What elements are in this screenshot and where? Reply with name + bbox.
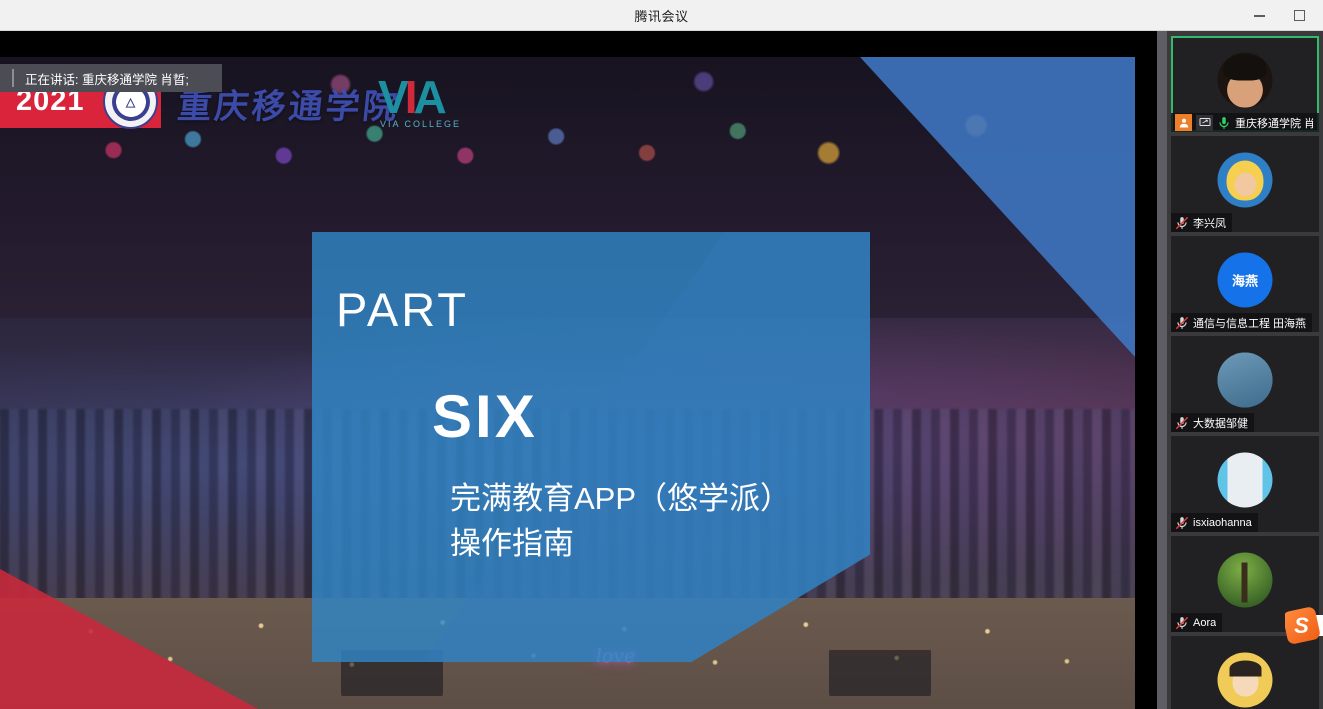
- speaking-indicator-text: 正在讲话: 重庆移通学院 肖晢;: [25, 69, 189, 88]
- participant-nameplate: 大数据邹健: [1171, 413, 1254, 432]
- window-titlebar: 腾讯会议: [0, 0, 1323, 31]
- participant-nameplate: 重庆移通学院 肖...: [1171, 113, 1319, 132]
- participant-name: Aora: [1193, 617, 1216, 629]
- avatar: [1218, 453, 1273, 508]
- participant-nameplate: Aora: [1171, 613, 1222, 632]
- window-controls: [1239, 0, 1319, 31]
- slide-part-label: PART: [336, 282, 469, 337]
- avatar: [1218, 653, 1273, 708]
- participant-name: 李兴凤: [1193, 215, 1226, 231]
- via-logo: V I A: [378, 77, 447, 118]
- mic-muted-icon[interactable]: [1175, 316, 1189, 330]
- participant-name: isxiaohanna: [1193, 517, 1252, 529]
- participant-name: 通信与信息工程 田海燕: [1193, 315, 1306, 331]
- slide-section-title: 完满教育APP（悠学派）操作指南: [450, 477, 820, 567]
- participant-tile[interactable]: 大数据邹健: [1171, 336, 1319, 432]
- mic-muted-icon[interactable]: [1175, 516, 1189, 530]
- participant-tile[interactable]: 海燕通信与信息工程 田海燕: [1171, 236, 1319, 332]
- window-title: 腾讯会议: [634, 6, 688, 25]
- participant-name: 大数据邹健: [1193, 415, 1248, 431]
- participant-tile[interactable]: 重庆移通学院 肖...: [1171, 36, 1319, 132]
- presentation-slide: love 2021 ▵ 重庆移通学院 V I A VIA COLLEGE PAR…: [0, 57, 1135, 709]
- maximize-button[interactable]: [1279, 0, 1319, 31]
- avatar: [1218, 553, 1273, 608]
- participants-scrollbar[interactable]: [1157, 31, 1167, 709]
- mic-muted-icon[interactable]: [1175, 616, 1189, 630]
- avatar-initials: 海燕: [1232, 271, 1258, 290]
- mic-on-icon[interactable]: [1217, 116, 1231, 130]
- speaking-indicator: 正在讲话: 重庆移通学院 肖晢;: [0, 64, 222, 92]
- participant-nameplate: isxiaohanna: [1171, 513, 1258, 532]
- slide-part-number: SIX: [432, 382, 538, 451]
- floor-box-right: [829, 650, 931, 696]
- shared-screen-stage[interactable]: love 2021 ▵ 重庆移通学院 V I A VIA COLLEGE PAR…: [0, 31, 1157, 709]
- avatar: [1218, 153, 1273, 208]
- mic-muted-icon[interactable]: [1175, 216, 1189, 230]
- via-logo-a: A: [413, 77, 446, 118]
- sogou-ime-letter: S: [1294, 615, 1309, 637]
- tencent-meeting-window: 腾讯会议 love: [0, 0, 1323, 709]
- speaking-indicator-accent: [12, 69, 14, 87]
- sogou-ime-badge: S: [1285, 607, 1321, 645]
- minimize-icon: [1254, 15, 1265, 17]
- participant-tile[interactable]: isxiaohanna: [1171, 436, 1319, 532]
- avatar: 海燕: [1218, 253, 1273, 308]
- maximize-icon: [1294, 10, 1305, 21]
- via-logo-subtitle: VIA COLLEGE: [380, 119, 461, 129]
- avatar: [1218, 353, 1273, 408]
- participant-tile[interactable]: 李兴凤: [1171, 136, 1319, 232]
- minimize-button[interactable]: [1239, 0, 1279, 31]
- host-badge-icon: [1175, 114, 1192, 131]
- screen-share-icon: [1196, 115, 1213, 131]
- mic-muted-icon[interactable]: [1175, 416, 1189, 430]
- sogou-ime-icon[interactable]: S: [1285, 607, 1323, 647]
- participant-nameplate: 李兴凤: [1171, 213, 1232, 232]
- participant-name: 重庆移通学院 肖...: [1235, 115, 1313, 131]
- avatar: [1218, 53, 1273, 108]
- participant-nameplate: 通信与信息工程 田海燕: [1171, 313, 1312, 332]
